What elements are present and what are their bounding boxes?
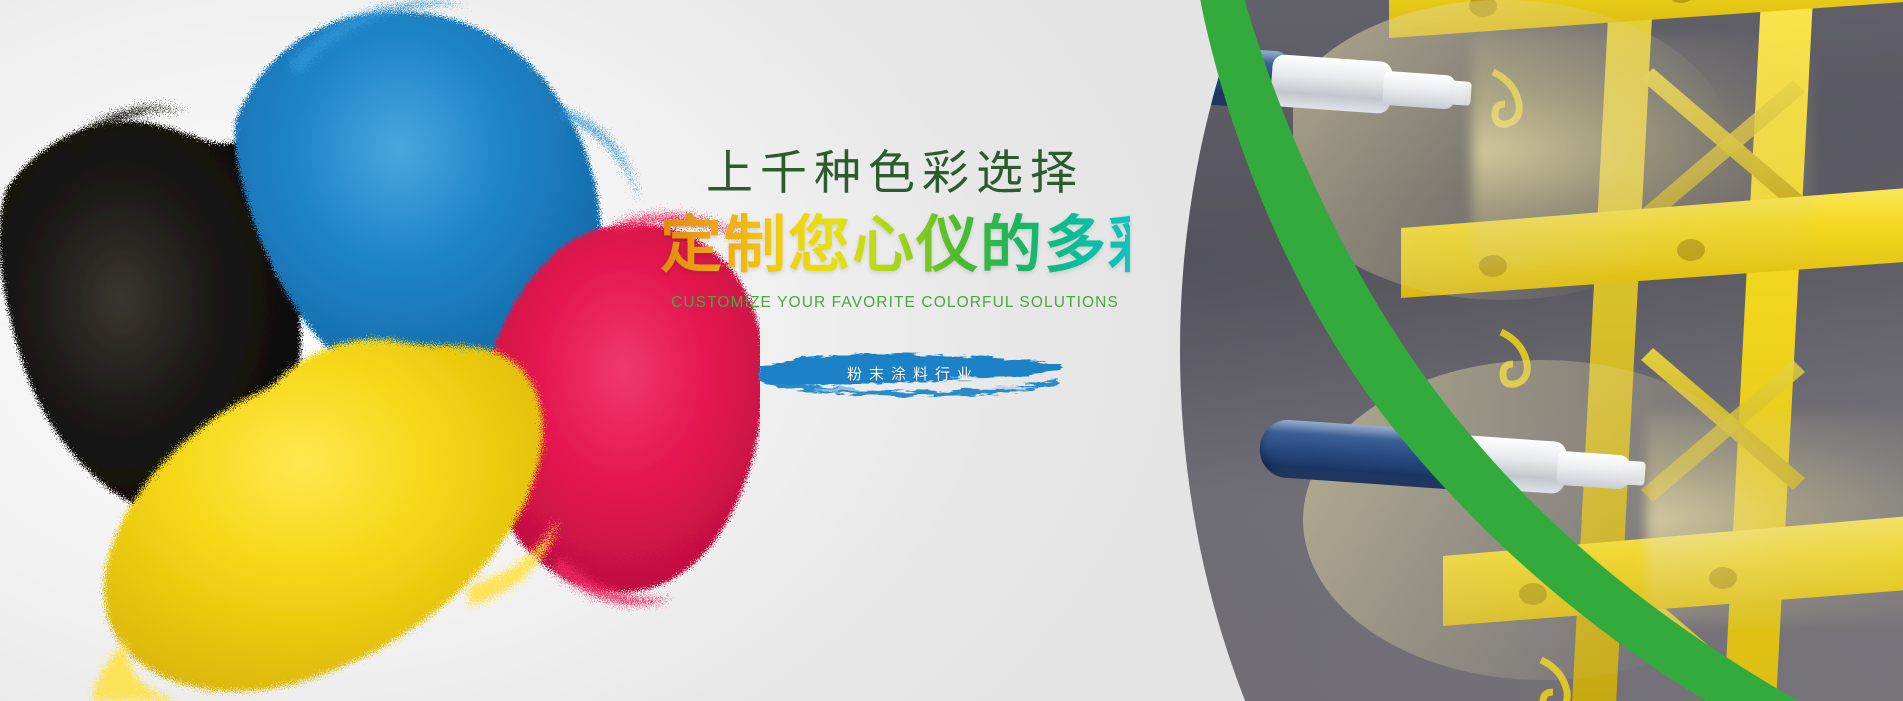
page-title: 上千种色彩选择	[660, 150, 1130, 197]
hero-banner: Encore 上千种色彩选择 定制您心仪的多彩方案 CUSTOMIZE YOUR…	[0, 0, 1903, 701]
industry-badge: 粉末涂料行业	[755, 348, 1065, 398]
powder-spray-cloud-upper	[1472, 36, 1812, 266]
spray-gun-collar	[1444, 434, 1567, 494]
badge-label: 粉末涂料行业	[755, 348, 1065, 398]
spray-gun-nozzle	[1382, 71, 1456, 110]
powder-spray-cloud-lower	[1646, 414, 1903, 624]
spray-gun-nozzle	[1556, 451, 1630, 490]
headline-secondary: 定制您心仪的多彩方案	[660, 213, 1130, 276]
spray-gun-tip	[1448, 80, 1472, 105]
spray-booth-photo: Encore	[1180, 0, 1903, 701]
subtitle-english: CUSTOMIZE YOUR FAVORITE COLORFUL SOLUTIO…	[660, 294, 1130, 312]
spray-gun-collar	[1270, 54, 1393, 114]
cmyk-powder-piles	[0, 0, 760, 701]
spray-gun-tip	[1622, 460, 1646, 485]
